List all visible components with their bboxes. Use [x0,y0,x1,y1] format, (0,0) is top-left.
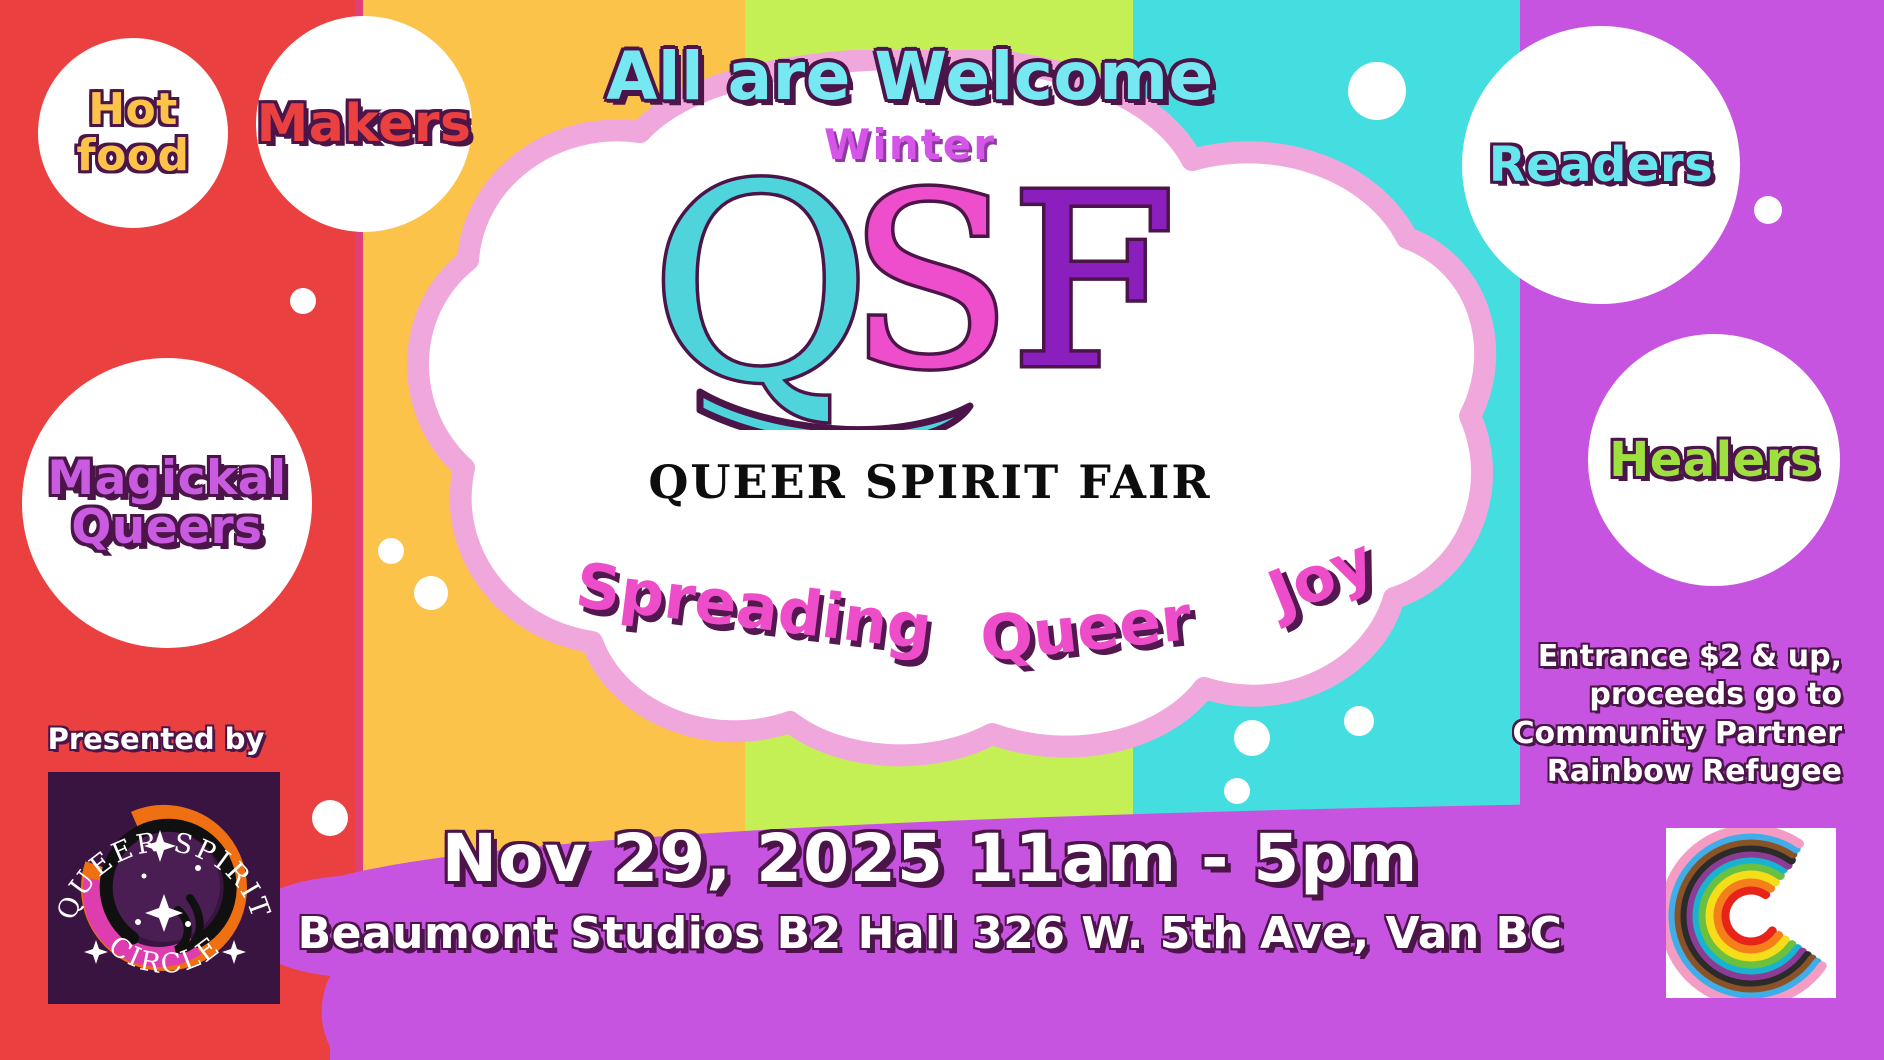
bubble-label-makers: Makers [251,97,478,152]
bubble-hot-food: Hot food [38,38,228,228]
bubble-label-readers: Readers [1483,140,1720,190]
entrance-fee-note: Entrance $2 & up, proceeds go to Communi… [1362,638,1842,792]
presented-by-label: Presented by [46,722,266,756]
bubble-label-hot-food: Hot food [70,87,195,179]
qsf-letter-f: F [1010,160,1177,422]
decorative-dot [1754,196,1782,224]
rainbow-refugee-logo [1666,828,1836,998]
bubble-healers: Healers [1588,334,1840,586]
qsf-letter-s: S [848,160,1012,422]
headline-all-are-welcome: All are Welcome [560,42,1260,111]
event-date-time: Nov 29, 2025 11am - 5pm [330,820,1530,897]
decorative-dot [290,288,316,314]
queer-spirit-circle-logo: QUEER SPIRIT CIRCLE [48,772,280,1004]
poster-canvas: All are Welcome Winter Q S F QUEER SPIRI… [0,0,1884,1060]
bubble-makers: Makers [256,16,472,232]
bubble-label-magickal-queers: Magickal Queers [41,454,292,553]
bubble-label-healers: Healers [1603,435,1825,485]
event-venue-address: Beaumont Studios B2 Hall 326 W. 5th Ave,… [280,908,1580,959]
qsf-letter-q: Q [650,160,871,430]
qsf-logo-wordmark: Q S F [640,160,1200,430]
qsf-wordmark-subtitle: QUEER SPIRIT FAIR [620,455,1240,509]
bubble-readers: Readers [1462,26,1740,304]
bubble-magickal-queers: Magickal Queers [22,358,312,648]
